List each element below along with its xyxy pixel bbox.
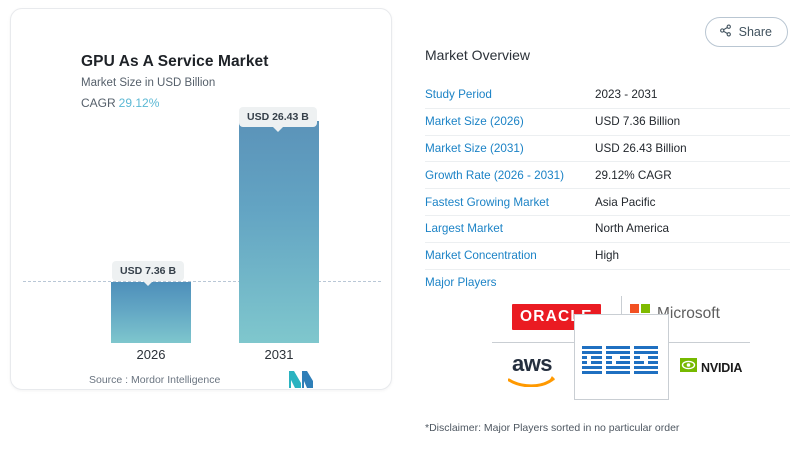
bar-label-2031: USD 26.43 B: [239, 107, 317, 127]
row-key-fastest-growing-market: Fastest Growing Market: [425, 196, 595, 209]
row-value-growth-rate: 29.12% CAGR: [595, 169, 672, 182]
row-key-major-players: Major Players: [425, 276, 595, 289]
aws-logo-text: aws: [512, 354, 552, 374]
bar-chart-plot: USD 7.36 B USD 26.43 B 2026 2031: [11, 9, 392, 390]
ibm-logo: [582, 346, 658, 376]
table-row: Study Period 2023 - 2031: [425, 82, 790, 109]
chart-gridline: [23, 281, 381, 282]
table-row: Market Size (2026) USD 7.36 Billion: [425, 109, 790, 136]
table-row: Largest Market North America: [425, 216, 790, 243]
row-key-growth-rate: Growth Rate (2026 - 2031): [425, 169, 595, 182]
table-row-major-players: Major Players: [425, 270, 790, 297]
chart-card: GPU As A Service Market Market Size in U…: [10, 8, 392, 390]
aws-logo: aws: [508, 354, 556, 387]
share-icon: [719, 24, 732, 40]
row-value-study-period: 2023 - 2031: [595, 88, 657, 101]
x-axis-tick-2026: 2026: [111, 347, 191, 362]
table-row: Fastest Growing Market Asia Pacific: [425, 189, 790, 216]
nvidia-logo-text: NVIDIA: [701, 361, 742, 375]
row-value-market-concentration: High: [595, 249, 619, 262]
row-key-largest-market: Largest Market: [425, 222, 595, 235]
row-value-market-size-2026: USD 7.36 Billion: [595, 115, 680, 128]
major-players-logo-grid: ORACLE Microsoft aws: [512, 296, 730, 400]
nvidia-logo: NVIDIA: [680, 358, 742, 377]
chart-source: Source : Mordor Intelligence: [89, 374, 220, 386]
row-value-largest-market: North America: [595, 222, 669, 235]
market-overview-title: Market Overview: [425, 47, 530, 63]
row-key-market-concentration: Market Concentration: [425, 249, 595, 262]
row-key-study-period: Study Period: [425, 88, 595, 101]
x-axis-tick-2031: 2031: [239, 347, 319, 362]
row-value-fastest-growing-market: Asia Pacific: [595, 196, 655, 209]
row-key-market-size-2031: Market Size (2031): [425, 142, 595, 155]
nvidia-eye-icon: [680, 358, 697, 377]
share-button[interactable]: Share: [705, 17, 788, 47]
bar-2026[interactable]: [111, 282, 191, 343]
disclaimer-text: *Disclaimer: Major Players sorted in no …: [425, 422, 679, 434]
mordor-intelligence-logo: [289, 371, 313, 390]
row-value-market-size-2031: USD 26.43 Billion: [595, 142, 687, 155]
table-row: Market Concentration High: [425, 243, 790, 270]
market-overview-table: Study Period 2023 - 2031 Market Size (20…: [425, 82, 790, 296]
bar-label-2026: USD 7.36 B: [112, 261, 184, 281]
page-root: GPU As A Service Market Market Size in U…: [0, 0, 800, 459]
aws-smile-icon: [508, 374, 556, 387]
table-row: Market Size (2031) USD 26.43 Billion: [425, 136, 790, 163]
share-button-label: Share: [739, 25, 772, 39]
row-key-market-size-2026: Market Size (2026): [425, 115, 595, 128]
bar-2031[interactable]: [239, 121, 319, 343]
table-row: Growth Rate (2026 - 2031) 29.12% CAGR: [425, 162, 790, 189]
ibm-logo-mark: [582, 346, 658, 376]
